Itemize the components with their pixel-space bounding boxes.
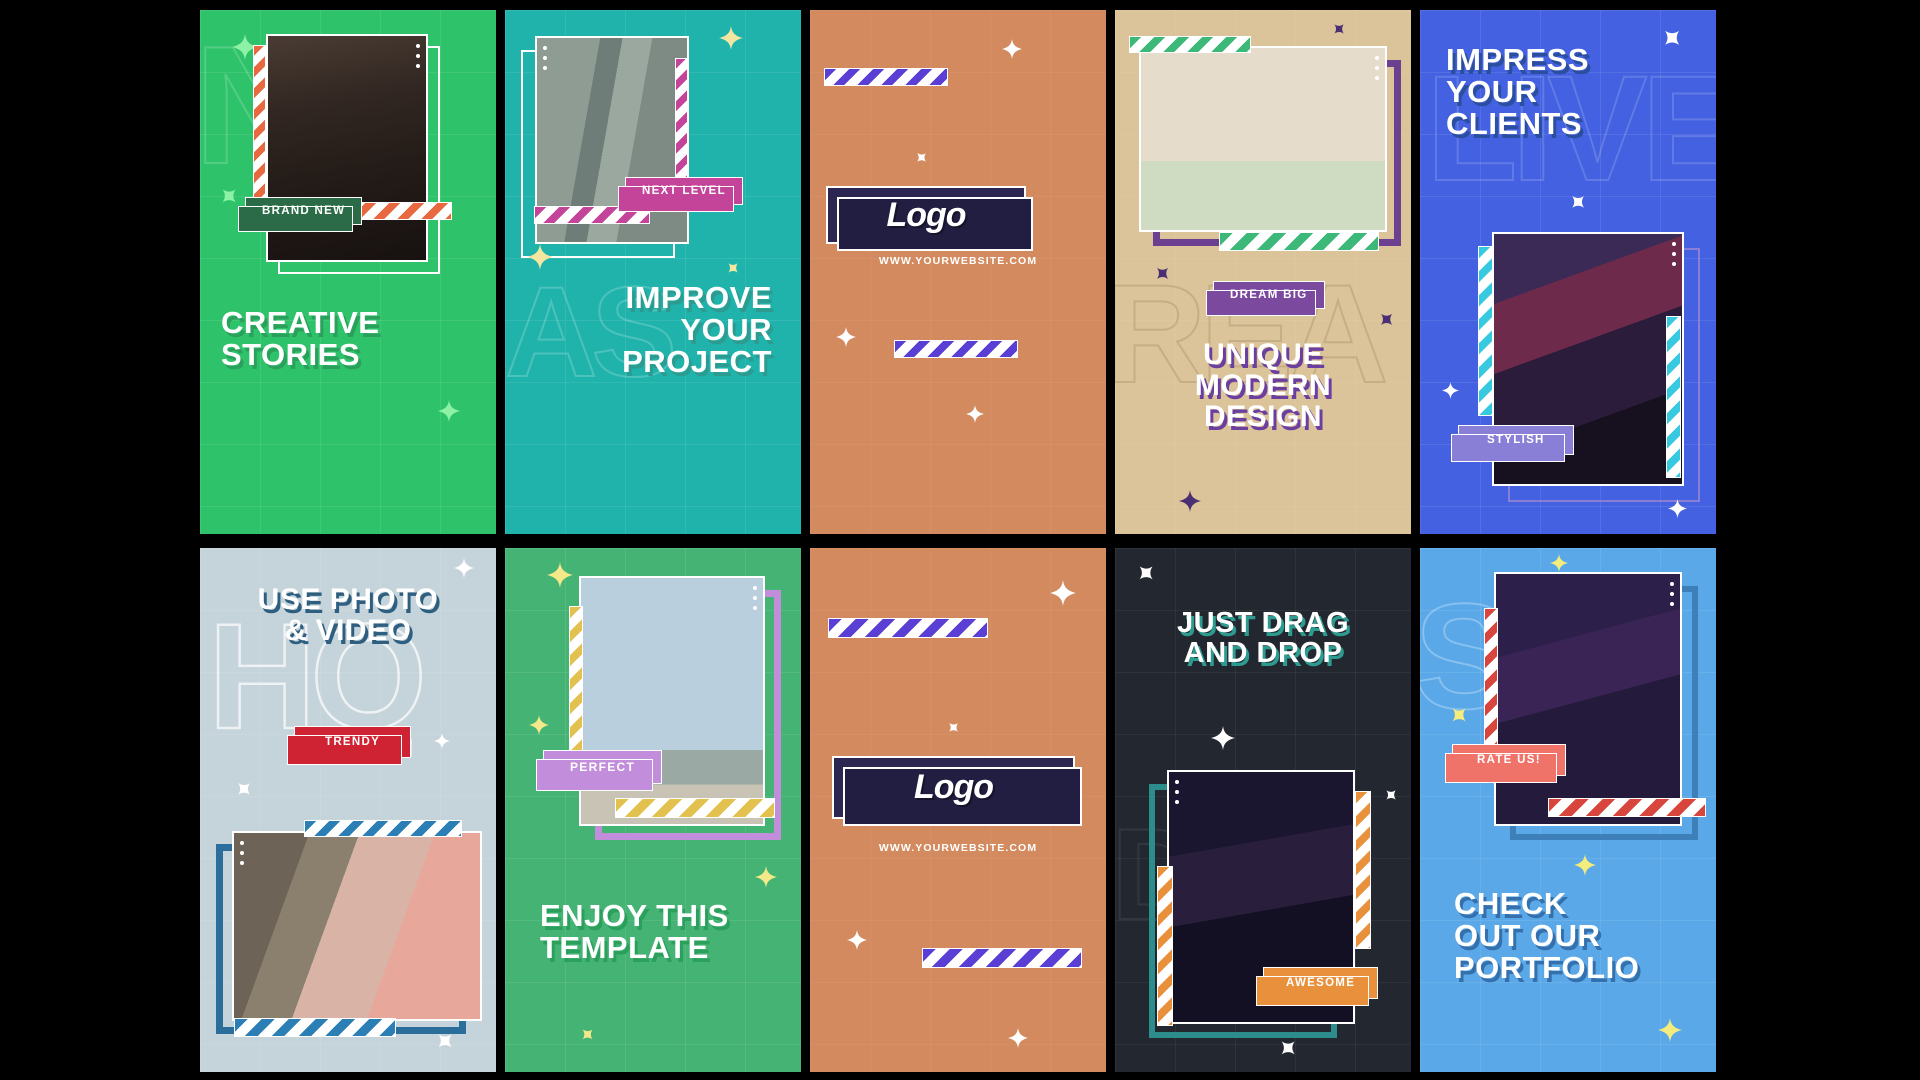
three-dots-icon xyxy=(240,841,244,865)
badge-dream-big[interactable]: DREAM BIG xyxy=(1213,281,1325,309)
sparkle-icon xyxy=(1050,580,1076,606)
three-dots-icon xyxy=(1375,56,1379,80)
stripe-bar-left xyxy=(1484,608,1498,756)
badge-label: NEXT LEVEL xyxy=(642,185,726,197)
x-sparkle-icon xyxy=(1660,26,1684,50)
sparkle-icon xyxy=(1179,490,1201,512)
photo-woman-blue-wig xyxy=(1494,572,1682,826)
x-sparkle-icon xyxy=(946,720,961,735)
x-sparkle-icon xyxy=(1383,787,1399,803)
logo-plate: Logo xyxy=(832,756,1075,819)
badge-perfect[interactable]: PERFECT xyxy=(543,750,662,784)
headline-line-1: USE PHOTO xyxy=(200,584,496,615)
stripe-bar-left xyxy=(1478,246,1493,416)
stripe-bar-bottom xyxy=(234,1018,396,1037)
stripe-bar-bottom xyxy=(1219,232,1379,251)
sparkle-icon xyxy=(434,733,450,749)
three-dots-icon xyxy=(1672,242,1676,266)
card-headline: ENJOY THIS TEMPLATE xyxy=(540,900,729,964)
card-logo-bottom[interactable]: Logo WWW.YOURWEBSITE.COM xyxy=(810,548,1106,1072)
three-dots-icon xyxy=(1670,582,1674,606)
badge-label: STYLISH xyxy=(1487,434,1545,446)
sparkle-icon xyxy=(529,715,549,735)
x-sparkle-icon xyxy=(1135,562,1157,584)
stripe-bar-top xyxy=(1129,36,1251,53)
card-headline: USE PHOTO & VIDEO xyxy=(200,584,496,646)
story-template-grid: N BRAND NEW CREATIVE STORIES AS xyxy=(200,10,1720,1072)
three-dots-icon xyxy=(1175,780,1179,804)
badge-stylish[interactable]: STYLISH xyxy=(1458,425,1574,455)
badge-label: AWESOME xyxy=(1286,977,1355,989)
card-improve-your-project[interactable]: AS NEXT LEVEL IMPROVE YOUR PROJECT xyxy=(505,10,801,534)
x-sparkle-icon xyxy=(234,779,254,799)
website-url: WWW.YOURWEBSITE.COM xyxy=(810,842,1106,854)
x-sparkle-icon xyxy=(914,150,929,165)
headline-line-1: JUST DRAG xyxy=(1115,608,1411,638)
card-headline: JUST DRAG AND DROP xyxy=(1115,608,1411,668)
headline-line-2: STORIES xyxy=(221,339,379,371)
stripe-bar-right xyxy=(1666,316,1681,478)
three-dots-icon xyxy=(753,586,757,610)
headline-line-2: OUT OUR xyxy=(1454,920,1639,952)
stripe-bar-top xyxy=(828,618,988,638)
stripe-bar-top xyxy=(304,820,462,837)
card-impress-your-clients[interactable]: LIVE IMPRESS YOUR CLIENTS STYLISH xyxy=(1420,10,1716,534)
logo-text: Logo xyxy=(886,196,965,235)
card-enjoy-this-template[interactable]: PERFECT ENJOY THIS TEMPLATE xyxy=(505,548,801,1072)
sparkle-icon xyxy=(1008,1028,1028,1048)
sparkle-icon xyxy=(1658,1018,1682,1042)
badge-label: PERFECT xyxy=(570,760,635,774)
x-sparkle-icon xyxy=(579,1026,596,1043)
sparkle-icon xyxy=(836,327,856,347)
headline-line-2: MODERN xyxy=(1115,370,1411,401)
photo-woman-floral-dress xyxy=(1139,46,1387,232)
headline-line-2: YOUR xyxy=(1446,76,1589,108)
x-sparkle-icon xyxy=(725,260,741,276)
stripe-bar-bottom xyxy=(615,798,775,818)
x-sparkle-icon xyxy=(1448,704,1470,726)
card-logo-top[interactable]: Logo WWW.YOURWEBSITE.COM xyxy=(810,10,1106,534)
three-dots-icon xyxy=(416,44,420,68)
headline-line-3: PROJECT xyxy=(577,346,772,378)
grid-texture xyxy=(810,10,1106,534)
sparkle-icon xyxy=(1442,382,1459,399)
stripe-bar-left xyxy=(1157,866,1173,1026)
x-sparkle-icon xyxy=(218,185,240,207)
sparkle-icon xyxy=(1550,554,1568,572)
sparkle-icon xyxy=(438,400,460,422)
card-headline: CHECK OUT OUR PORTFOLIO xyxy=(1454,888,1639,985)
website-url: WWW.YOURWEBSITE.COM xyxy=(810,255,1106,267)
badge-rate-us[interactable]: RATE US! xyxy=(1452,744,1566,776)
card-creative-stories[interactable]: N BRAND NEW CREATIVE STORIES xyxy=(200,10,496,534)
x-sparkle-icon xyxy=(1331,21,1347,37)
photo-woman-afro-red-dress xyxy=(232,831,482,1021)
card-headline: IMPROVE YOUR PROJECT xyxy=(577,282,772,379)
badge-label: DREAM BIG xyxy=(1230,289,1308,301)
card-use-photo-and-video[interactable]: HQ USE PHOTO & VIDEO TRENDY xyxy=(200,548,496,1072)
logo-plate: Logo xyxy=(826,186,1026,244)
x-sparkle-icon xyxy=(1153,264,1172,283)
stripe-bar-bottom xyxy=(1548,798,1706,817)
card-check-out-our-portfolio[interactable]: S RATE US! CHECK OUT OUR PORTFOLIO xyxy=(1420,548,1716,1072)
sparkle-icon xyxy=(719,26,743,50)
stripe-bar-left xyxy=(569,606,583,754)
card-headline: UNIQUE MODERN DESIGN xyxy=(1115,339,1411,433)
headline-line-1: CREATIVE xyxy=(221,307,379,339)
badge-label: RATE US! xyxy=(1477,754,1541,766)
stripe-bar-bottom xyxy=(894,340,1018,358)
x-sparkle-icon xyxy=(1568,192,1588,212)
headline-line-1: UNIQUE xyxy=(1115,339,1411,370)
sparkle-icon xyxy=(1211,726,1235,750)
stripe-bar-bottom xyxy=(922,948,1082,968)
headline-line-2: & VIDEO xyxy=(200,615,496,646)
stripe-bar-right xyxy=(1355,791,1371,949)
photo-frame xyxy=(232,831,482,1021)
card-just-drag-and-drop[interactable]: DS JUST DRAG AND DROP AWESOME xyxy=(1115,548,1411,1072)
headline-line-3: DESIGN xyxy=(1115,401,1411,432)
photo-frame xyxy=(1494,572,1682,826)
badge-awesome[interactable]: AWESOME xyxy=(1263,967,1378,999)
sparkle-icon xyxy=(1574,854,1596,876)
sparkle-icon xyxy=(454,558,474,578)
headline-line-1: CHECK xyxy=(1454,888,1639,920)
three-dots-icon xyxy=(543,46,547,70)
headline-line-2: YOUR xyxy=(577,314,772,346)
card-unique-modern-design[interactable]: REA DREAM BIG UNIQUE MODERN DESIGN xyxy=(1115,10,1411,534)
headline-line-1: IMPRESS xyxy=(1446,44,1589,76)
card-headline: CREATIVE STORIES xyxy=(221,307,379,371)
sparkle-icon xyxy=(966,405,984,423)
headline-line-3: PORTFOLIO xyxy=(1454,952,1639,984)
badge-next-level[interactable]: NEXT LEVEL xyxy=(625,177,743,205)
headline-line-1: ENJOY THIS xyxy=(540,900,729,932)
headline-line-1: IMPROVE xyxy=(577,282,772,314)
badge-brand-new[interactable]: BRAND NEW xyxy=(245,197,362,225)
card-headline: IMPRESS YOUR CLIENTS xyxy=(1446,44,1589,141)
headline-line-2: TEMPLATE xyxy=(540,932,729,964)
badge-trendy[interactable]: TRENDY xyxy=(294,726,411,758)
badge-label: BRAND NEW xyxy=(262,205,345,217)
headline-line-3: CLIENTS xyxy=(1446,108,1589,140)
sparkle-icon xyxy=(547,562,573,588)
sparkle-icon xyxy=(755,866,777,888)
headline-line-2: AND DROP xyxy=(1115,638,1411,668)
sparkle-icon xyxy=(1002,39,1022,59)
photo-frame xyxy=(1139,46,1387,232)
x-sparkle-icon xyxy=(1277,1037,1299,1059)
sparkle-icon xyxy=(847,930,867,950)
logo-text: Logo xyxy=(914,768,993,807)
x-sparkle-icon xyxy=(1377,310,1396,329)
stripe-bar-top xyxy=(824,68,948,86)
badge-label: TRENDY xyxy=(325,736,380,748)
